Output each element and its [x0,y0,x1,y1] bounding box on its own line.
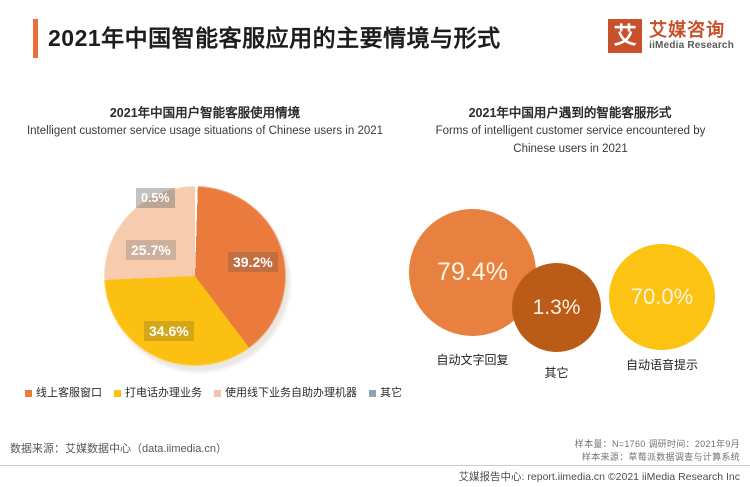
legend-item-offline-machine: 使用线下业务自助办理机器 [214,386,357,400]
pie-label-other: 0.5% [136,188,175,208]
legend-label: 打电话办理业务 [125,386,202,400]
page-title: 2021年中国智能客服应用的主要情境与形式 [48,19,501,58]
logo-name-cn: 艾媒咨询 [649,20,734,40]
right-chart-title-en-line2: Chinese users in 2021 [398,140,743,158]
right-chart-title-en-line1: Forms of intelligent customer service en… [398,122,743,140]
footer-divider [0,465,750,466]
pie-label-phone-call: 34.6% [144,321,194,341]
left-chart-title-cn: 2021年中国用户智能客服使用情境 [40,104,370,122]
bubble-other: 1.3% [512,263,601,352]
bubble-caption-auto-voice-prompt: 自动语音提示 [609,357,715,373]
legend-item-online-window: 线上客服窗口 [25,386,102,400]
legend-label: 其它 [380,386,402,400]
legend-label: 线上客服窗口 [36,386,102,400]
legend-swatch-icon [25,390,32,397]
logo-name-en: iiMedia Research [649,40,734,52]
title-accent-bar [33,19,38,58]
brand-logo: 艾 艾媒咨询 iiMedia Research [608,16,734,56]
footer-sample-size: 样本量：N=1760 调研时间：2021年9月 [575,437,740,450]
pie-legend: 线上客服窗口 打电话办理业务 使用线下业务自助办理机器 其它 [25,386,425,400]
pie-label-online-window: 39.2% [228,252,278,272]
left-chart-title-en: Intelligent customer service usage situa… [25,122,385,140]
bubble-caption-other: 其它 [512,365,601,381]
legend-swatch-icon [214,390,221,397]
right-chart-title-en: Forms of intelligent customer service en… [398,122,743,158]
bubble-auto-voice-prompt: 70.0% [609,244,715,350]
footer-sample-origin: 样本来源：草莓派数据调查与计算系统 [582,450,740,463]
legend-item-other: 其它 [369,386,402,400]
right-chart-title-cn: 2021年中国用户遇到的智能客服形式 [415,104,725,122]
pie-chart [104,186,294,374]
footer-data-source: 数据来源：艾媒数据中心（data.iimedia.cn） [10,440,227,456]
footer-report-center: 艾媒报告中心: report.iimedia.cn ©2021 iiMedia … [459,469,740,484]
page-header: 2021年中国智能客服应用的主要情境与形式 艾 艾媒咨询 iiMedia Res… [0,0,750,78]
legend-swatch-icon [114,390,121,397]
pie-label-offline-machine: 25.7% [126,240,176,260]
logo-text: 艾媒咨询 iiMedia Research [649,20,734,52]
logo-mark-icon: 艾 [608,19,642,53]
legend-label: 使用线下业务自助办理机器 [225,386,357,400]
legend-item-phone-call: 打电话办理业务 [114,386,202,400]
pie-slices [104,186,286,366]
legend-swatch-icon [369,390,376,397]
